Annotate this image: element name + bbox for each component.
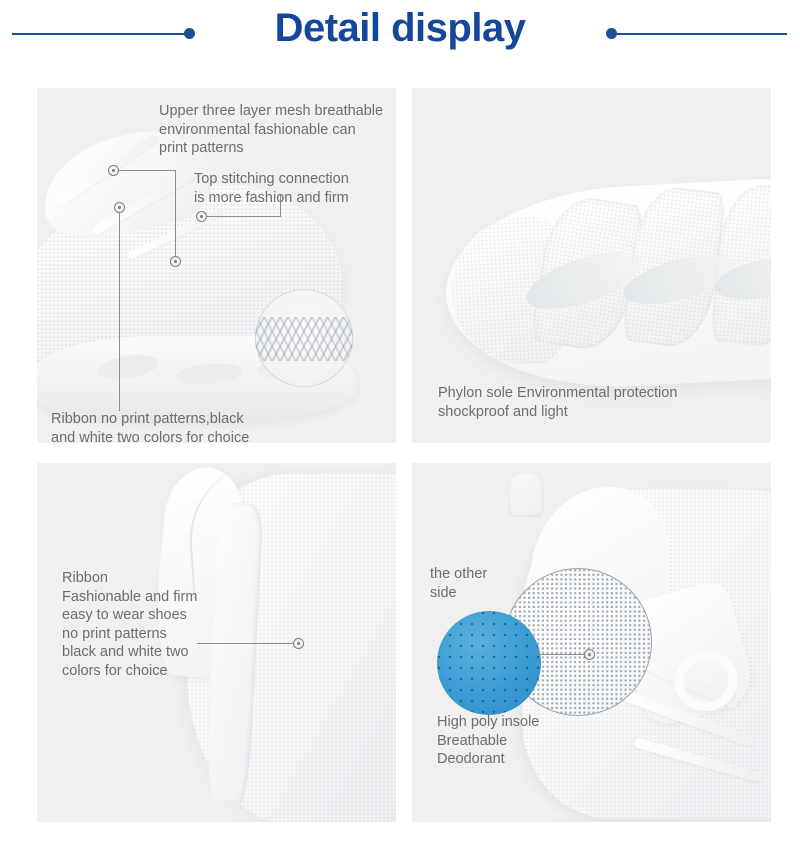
callout-marker[interactable] xyxy=(108,165,119,176)
leader-line-segment xyxy=(114,170,176,171)
callout-ribbon-note: Ribbon no print patterns,black and white… xyxy=(51,410,311,443)
callout-top-stitching-note: Top stitching connection is more fashion… xyxy=(194,170,394,207)
insole-material-circle xyxy=(437,611,541,715)
detail-panel-grid: Upper three layer mesh breathable enviro… xyxy=(37,88,771,822)
callout-marker[interactable] xyxy=(293,638,304,649)
leader-line-segment xyxy=(119,207,120,411)
panel-ribbon-collar: Ribbon Fashionable and firm easy to wear… xyxy=(37,463,396,822)
callout-marker[interactable] xyxy=(170,256,181,267)
outsole-shape xyxy=(441,176,771,395)
heel-tab xyxy=(508,471,544,517)
leader-line-segment xyxy=(532,654,588,655)
callout-high-poly-insole-note: High poly insole Breathable Deodorant xyxy=(437,713,637,769)
page-title: Detail display xyxy=(0,6,800,51)
callout-other-side-note: the other side xyxy=(430,565,550,602)
page-header: Detail display xyxy=(0,0,800,76)
callout-marker[interactable] xyxy=(196,211,207,222)
stitching-zoom-circle xyxy=(255,289,353,387)
leader-line-segment xyxy=(202,216,281,217)
panel-upper-mesh: Upper three layer mesh breathable enviro… xyxy=(37,88,396,443)
callout-marker[interactable] xyxy=(114,202,125,213)
stitch-texture xyxy=(255,317,353,361)
panel-phylon-sole: Phylon sole Environmental protection sho… xyxy=(412,88,771,443)
panel-insole: the other side High poly insole Breathab… xyxy=(412,463,771,822)
leader-line-segment xyxy=(175,170,176,262)
callout-ribbon-detail-note: Ribbon Fashionable and firm easy to wear… xyxy=(62,569,282,680)
callout-marker[interactable] xyxy=(584,649,595,660)
callout-upper-mesh-note: Upper three layer mesh breathable enviro… xyxy=(159,102,396,158)
callout-phylon-sole-note: Phylon sole Environmental protection sho… xyxy=(438,384,768,421)
